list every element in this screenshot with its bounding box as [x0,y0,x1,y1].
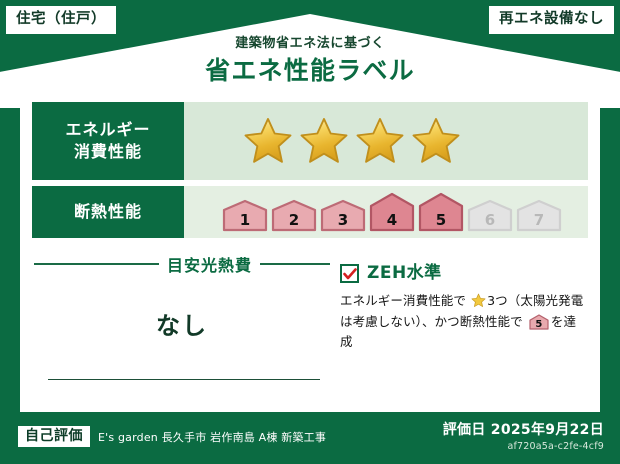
building-type-badge: 住宅（住戸） [6,6,116,34]
insulation-level-scale: 1234567 [222,192,562,232]
insulation-level-4: 4 [369,192,415,232]
energy-label-line2: 消費性能 [74,142,142,161]
label-footer: 自己評価 E's garden 長久手市 岩作南島 A棟 新築工事 評価日 20… [0,412,620,464]
inline-house-icon: 5 [529,314,549,330]
energy-performance-label: 住宅（住戸） 再エネ設備なし 建築物省エネ法に基づく 省エネ性能ラベル エネルギ… [0,0,620,464]
insulation-level-number: 5 [418,213,464,228]
utility-cost-panel: 目安光熱費 なし [32,252,332,418]
insulation-level-5: 5 [418,192,464,232]
insulation-level-7: 7 [516,199,562,232]
renewable-energy-badge: 再エネ設備なし [489,6,614,34]
utility-cost-title: 目安光熱費 [167,252,252,276]
insulation-level-number: 1 [222,213,268,228]
insulation-performance-value: 1234567 [184,186,588,238]
star-icon-filled [410,116,462,166]
insulation-level-2: 2 [271,199,317,232]
inline-house-number: 5 [529,320,549,330]
zeh-desc-part1: エネルギー消費性能で [340,293,466,308]
heading-rule-right [260,263,330,265]
check-icon [343,268,357,280]
header-title: 省エネ性能ラベル [0,57,620,85]
zeh-title: ZEH水準 [367,265,442,282]
star-icon-filled [298,116,350,166]
utility-cost-heading: 目安光熱費 [32,252,332,276]
zeh-description: エネルギー消費性能で 3つ（太陽光発電 は考慮しない）、かつ断熱性能で 5 を達… [340,291,588,353]
energy-label-line1: エネルギー [65,120,150,139]
label-card: エネルギー 消費性能 断熱性能 1234567 目安光熱費 [20,94,600,412]
zeh-heading: ZEH水準 [340,264,588,283]
star-icon-filled [242,116,294,166]
insulation-performance-label: 断熱性能 [32,186,184,238]
insulation-level-number: 7 [516,213,562,228]
star-rating [242,116,462,166]
utility-cost-underline [48,379,320,381]
star-icon-filled [354,116,406,166]
header-title-block: 建築物省エネ法に基づく 省エネ性能ラベル [0,36,620,84]
project-name: E's garden 長久手市 岩作南島 A棟 新築工事 [98,429,326,445]
utility-cost-value: なし [32,306,332,341]
insulation-level-number: 3 [320,213,366,228]
star-icon [471,293,486,308]
insulation-level-number: 6 [467,213,513,228]
energy-performance-value [184,102,588,180]
zeh-checkbox[interactable] [340,264,359,283]
self-evaluation-badge: 自己評価 [18,426,90,447]
insulation-level-number: 4 [369,213,415,228]
header-subtitle: 建築物省エネ法に基づく [0,36,620,52]
heading-rule-left [34,263,159,265]
footer-right-group: 評価日 2025年9月22日 af720a5a-c2fe-4cf9 [443,422,604,452]
insulation-level-6: 6 [467,199,513,232]
label-lower-section: 目安光熱費 なし ZEH水準 エネルギー消費性能で [32,252,588,418]
zeh-desc-starcount: 3つ（太陽光発電 [487,293,583,308]
energy-performance-row: エネルギー 消費性能 [32,102,588,180]
insulation-performance-row: 断熱性能 1234567 [32,186,588,238]
evaluation-id: af720a5a-c2fe-4cf9 [443,441,604,452]
zeh-panel: ZEH水準 エネルギー消費性能で 3つ（太陽光発電 は考慮しない）、かつ断熱性能… [332,252,588,418]
insulation-level-3: 3 [320,199,366,232]
energy-performance-label: エネルギー 消費性能 [32,102,184,180]
insulation-level-number: 2 [271,213,317,228]
zeh-desc-part2: は考慮しない）、かつ断熱性能で [340,314,523,329]
footer-left-group: 自己評価 E's garden 長久手市 岩作南島 A棟 新築工事 [18,426,326,447]
evaluation-date: 評価日 2025年9月22日 [443,422,604,439]
insulation-level-1: 1 [222,199,268,232]
